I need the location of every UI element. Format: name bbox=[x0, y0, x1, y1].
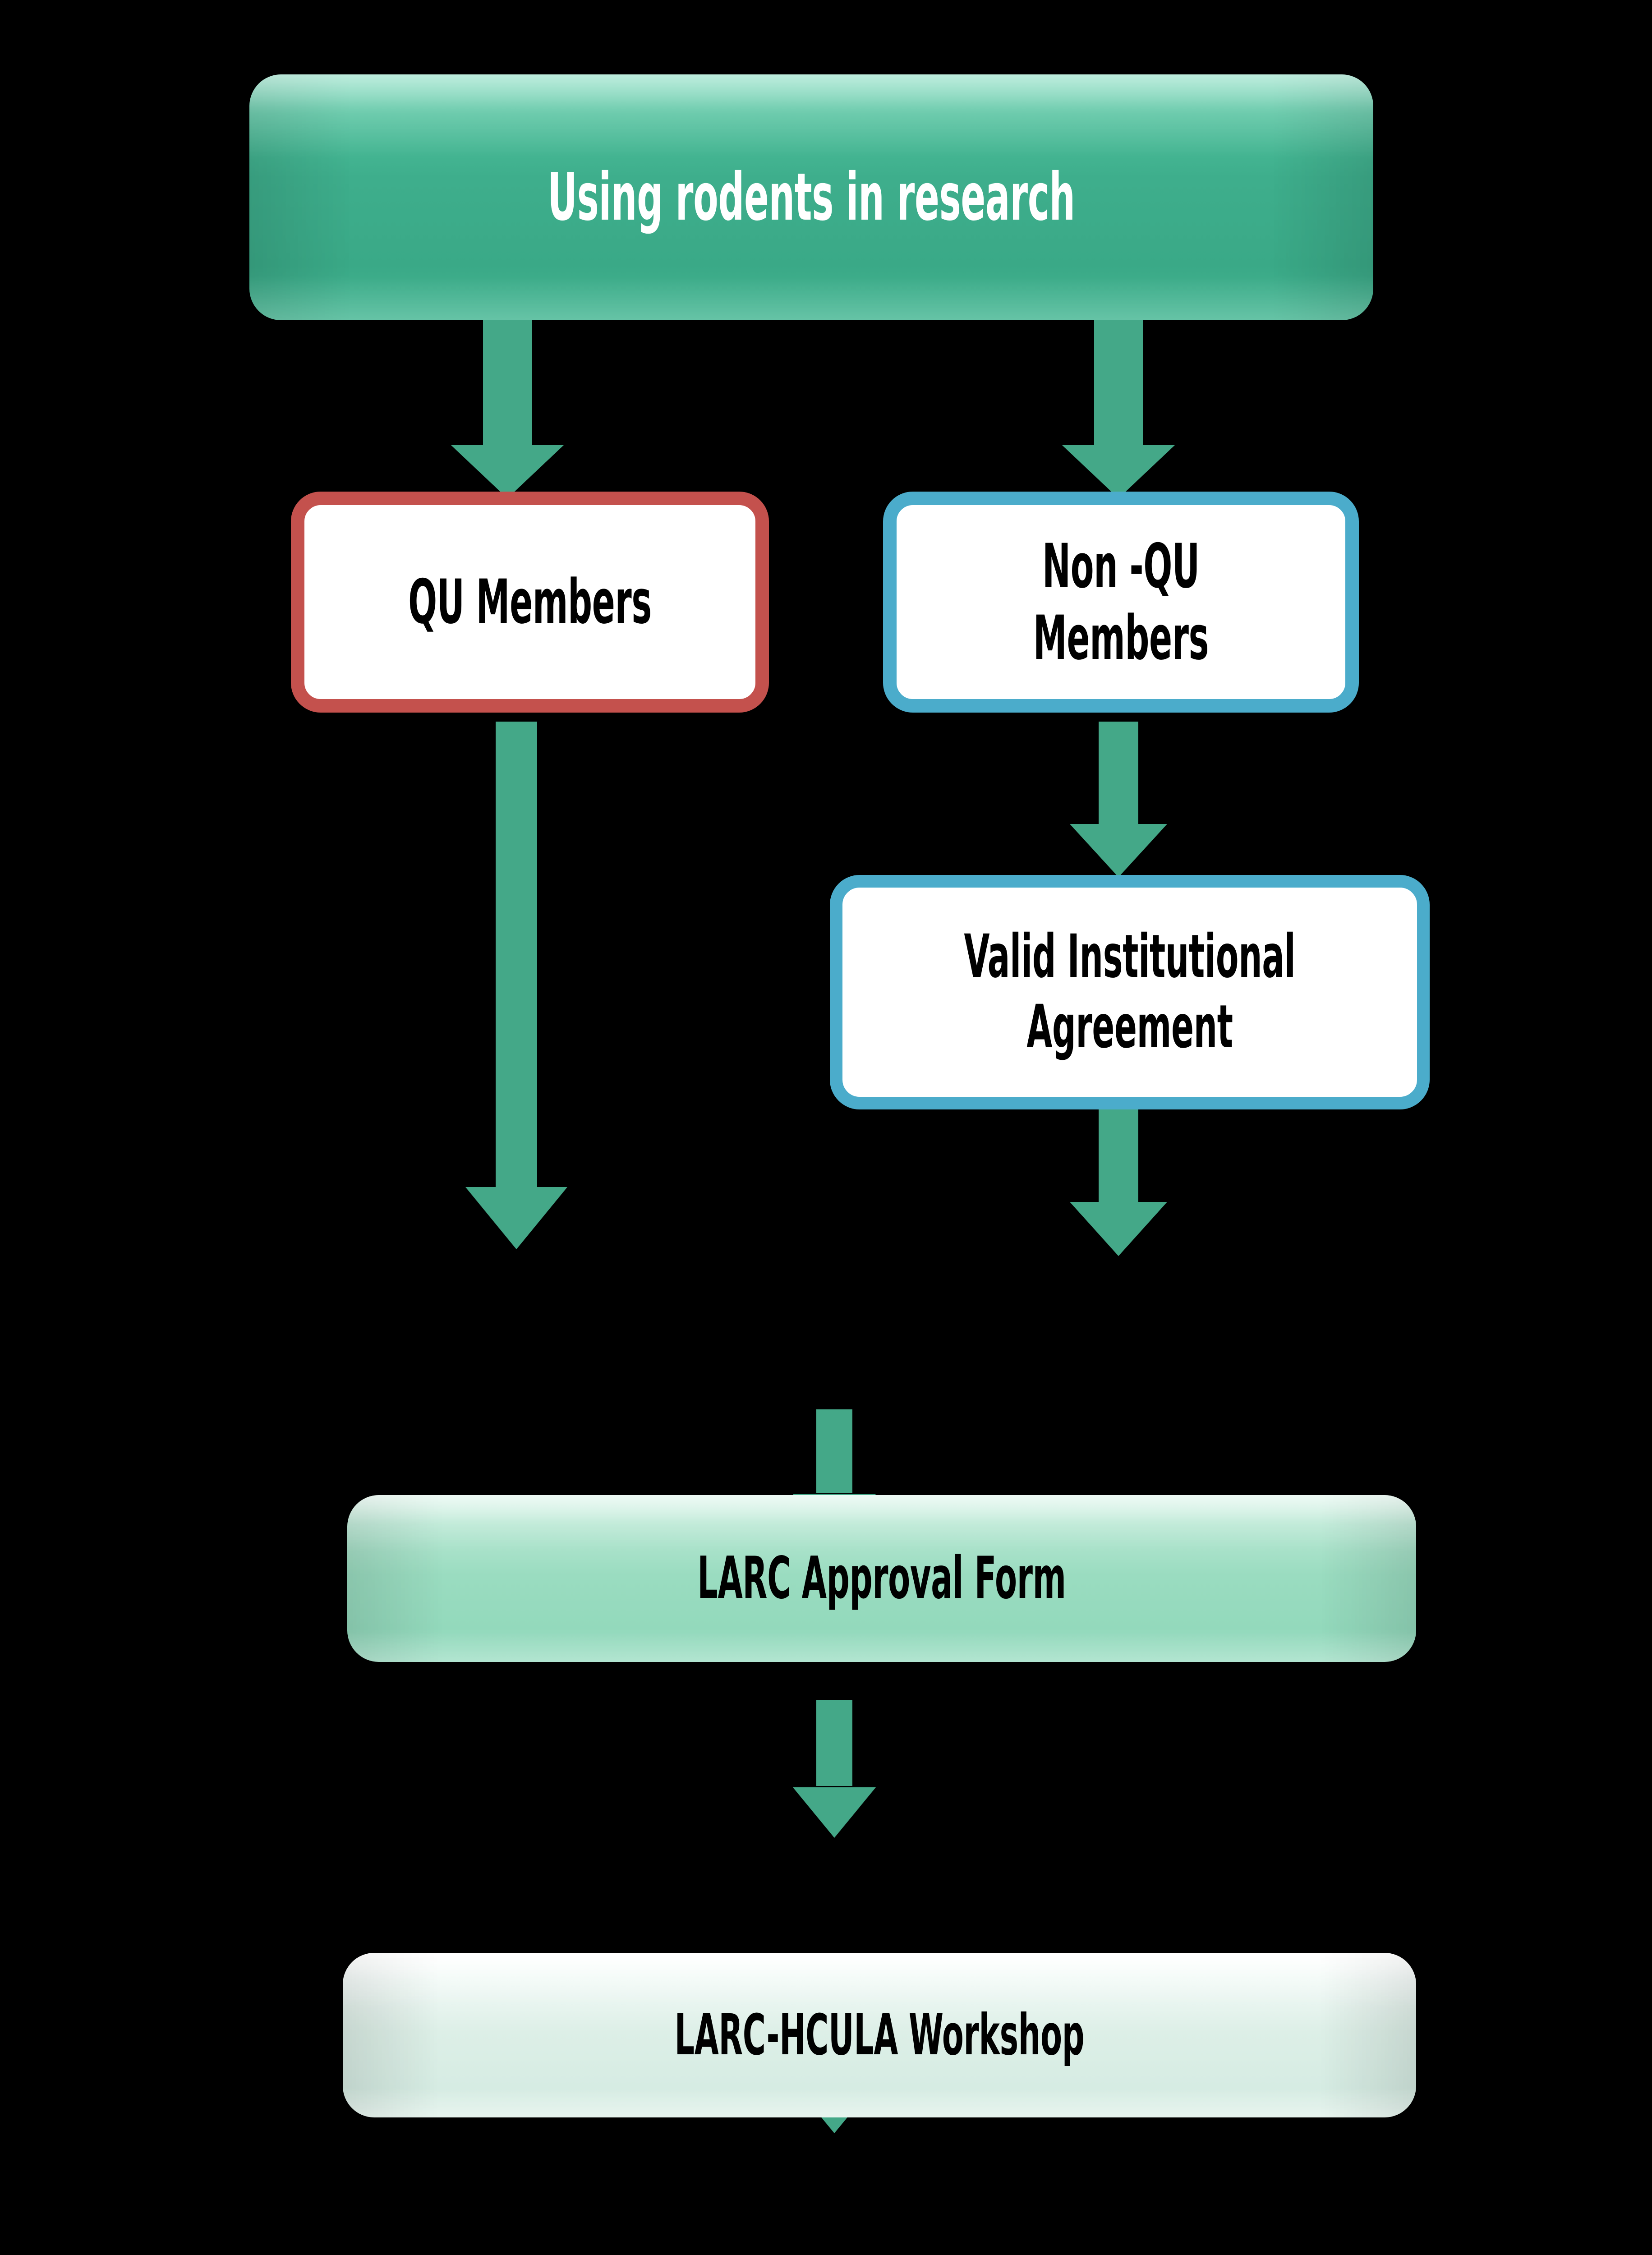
node-label: Non -QU Members bbox=[982, 530, 1260, 674]
node-non-qu-members[interactable]: Non -QU Members bbox=[883, 492, 1359, 713]
node-using-rodents-in-research[interactable]: Using rodents in research bbox=[249, 74, 1373, 320]
arrow-start-to-non-qu-members bbox=[1033, 318, 1204, 498]
node-label: QU Members bbox=[390, 566, 670, 638]
arrow-workshop-to-qu-iacuc-approval bbox=[767, 1700, 902, 1838]
arrow-qu-members-to-larc-approval-form bbox=[431, 722, 602, 1249]
node-qu-members[interactable]: QU Members bbox=[291, 492, 769, 713]
node-valid-institutional-agreement[interactable]: Valid Institutional Agreement bbox=[830, 875, 1430, 1109]
flowchart-canvas: Using rodents in research QU Members Non… bbox=[0, 0, 1652, 2255]
node-larc-approval-form[interactable]: LARC Approval Form bbox=[347, 1495, 1416, 1662]
arrow-start-to-qu-members bbox=[422, 318, 593, 498]
arrow-agreement-to-larc-approval-form bbox=[1042, 1105, 1195, 1256]
node-label: Using rodents in research bbox=[463, 159, 1160, 236]
node-label: Valid Institutional Agreement bbox=[952, 922, 1308, 1063]
node-label: LARC Approval Form bbox=[550, 1544, 1213, 1612]
arrow-non-qu-members-to-agreement bbox=[1042, 722, 1195, 877]
node-label: LARC-HCULA Workshop bbox=[547, 2002, 1212, 2069]
node-larc-hcula-workshop[interactable]: LARC-HCULA Workshop bbox=[343, 1953, 1416, 2117]
